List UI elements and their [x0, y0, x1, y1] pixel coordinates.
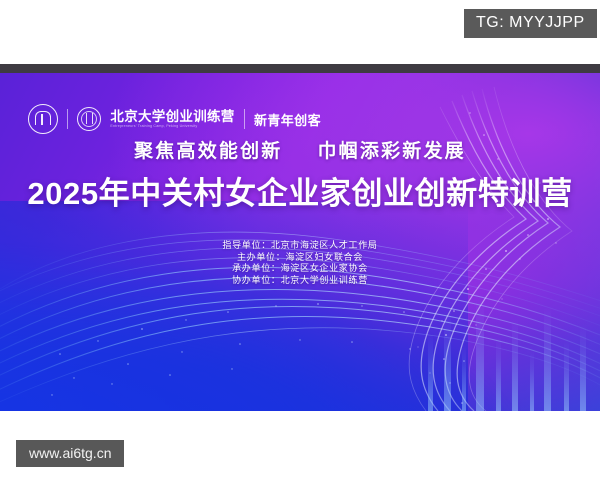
- poster-organizer-list: 指导单位：北京市海淀区人才工作局 主办单位：海淀区妇女联合会 承办单位：海淀区女…: [0, 240, 600, 286]
- poster-subtitle-right: 巾帼添彩新发展: [317, 141, 465, 162]
- maker-tag-label: 新青年创客: [254, 110, 321, 129]
- organizer-line: 承办单位：海淀区女企业家协会: [0, 263, 600, 275]
- tg-handle-badge: TG: MYYJJPP: [464, 9, 597, 38]
- event-poster-image: 北京大学创业训练营 Entrepreneurs' Training Camp, …: [0, 73, 600, 411]
- poster-subtitle: 聚焦高效能创新 巾帼添彩新发展: [0, 141, 600, 164]
- peking-university-seal-icon: [77, 107, 101, 131]
- logo-divider-icon-2: [244, 109, 245, 129]
- poster-headline-block: 聚焦高效能创新 巾帼添彩新发展 2025年中关村女企业家创业创新特训营: [0, 141, 600, 212]
- poster-logo-row: 北京大学创业训练营 Entrepreneurs' Training Camp, …: [28, 103, 321, 135]
- light-pillars-decoration: [410, 271, 600, 411]
- pku-logo-text: 北京大学创业训练营 Entrepreneurs' Training Camp, …: [110, 110, 234, 128]
- organizer-line: 指导单位：北京市海淀区人才工作局: [0, 240, 600, 252]
- poster-subtitle-left: 聚焦高效能创新: [134, 141, 282, 162]
- logo-divider-icon: [67, 109, 68, 129]
- site-watermark: www.ai6tg.cn: [16, 440, 124, 467]
- organizer-line: 主办单位：海淀区妇女联合会: [0, 252, 600, 264]
- pku-name-cn: 北京大学创业训练营: [110, 110, 234, 124]
- poster-main-title: 2025年中关村女企业家创业创新特训营: [0, 177, 600, 212]
- pku-name-en: Entrepreneurs' Training Camp, Peking Uni…: [110, 124, 234, 128]
- torii-circle-logo-icon: [28, 104, 58, 134]
- poster-top-strip: [0, 64, 600, 73]
- organizer-line: 协办单位：北京大学创业训练营: [0, 275, 600, 287]
